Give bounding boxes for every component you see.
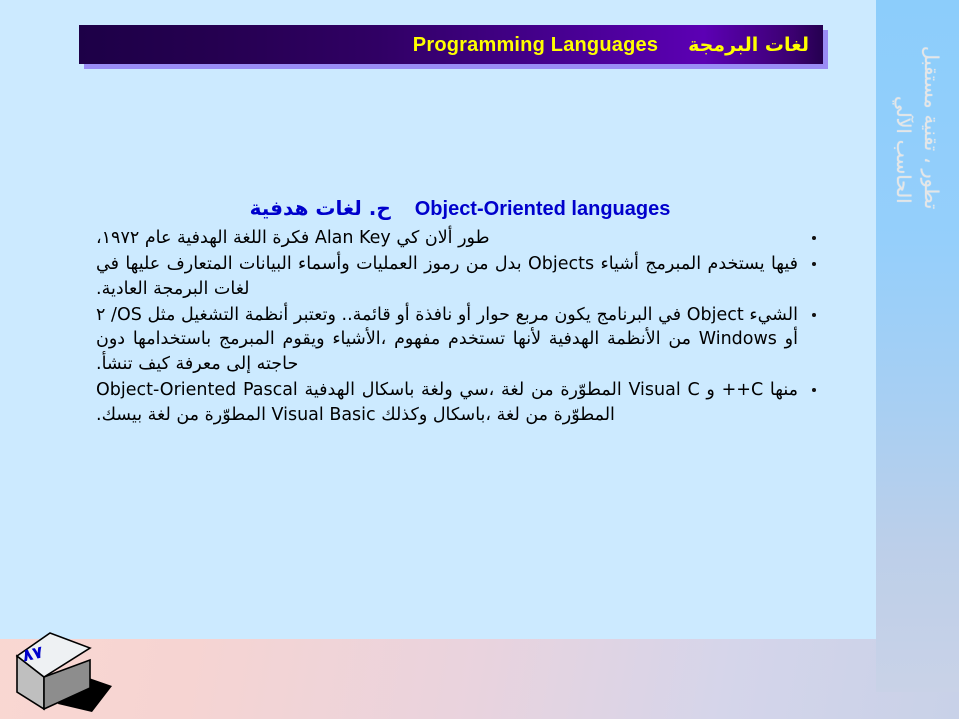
- bullet-item: فيها يستخدم المبرمج أشياء Objects بدل من…: [96, 252, 824, 302]
- bullet-text: الشيء Object في البرنامج يكون مربع حوار …: [96, 305, 798, 375]
- bullet-text: طور ألان كي Alan Key فكرة اللغة الهدفية …: [96, 228, 490, 248]
- slide-side-panel: [876, 0, 959, 692]
- bullet-dot-icon: [812, 313, 816, 317]
- slide-canvas: لغات البرمجة Programming Languages Objec…: [0, 0, 959, 719]
- section-heading: Object-Oriented languages ح. لغات هدفية: [96, 196, 824, 222]
- heading-arabic: ح. لغات هدفية: [250, 196, 391, 220]
- title-bar: لغات البرمجة Programming Languages: [79, 25, 823, 64]
- bullet-list: طور ألان كي Alan Key فكرة اللغة الهدفية …: [96, 226, 824, 428]
- title-english: Programming Languages: [413, 34, 658, 56]
- bullet-dot-icon: [812, 388, 816, 392]
- bullet-dot-icon: [812, 236, 816, 240]
- title-arabic: لغات البرمجة: [688, 34, 809, 56]
- bullet-text: فيها يستخدم المبرمج أشياء Objects بدل من…: [96, 254, 798, 299]
- bullet-item: الشيء Object في البرنامج يكون مربع حوار …: [96, 303, 824, 378]
- slide-content: Object-Oriented languages ح. لغات هدفية …: [96, 196, 824, 429]
- bullet-item: طور ألان كي Alan Key فكرة اللغة الهدفية …: [96, 226, 824, 251]
- keycap-3d-icon: ٨٧: [14, 630, 132, 714]
- bullet-dot-icon: [812, 262, 816, 266]
- title-bar-text: لغات البرمجة Programming Languages: [93, 32, 809, 57]
- bullet-text: منها C++ و Visual C المطوّرة من لغة ،سي …: [96, 380, 798, 425]
- heading-english: Object-Oriented languages: [415, 198, 671, 220]
- bullet-item: منها C++ و Visual C المطوّرة من لغة ،سي …: [96, 378, 824, 428]
- page-number-keycap: ٨٧: [14, 630, 132, 714]
